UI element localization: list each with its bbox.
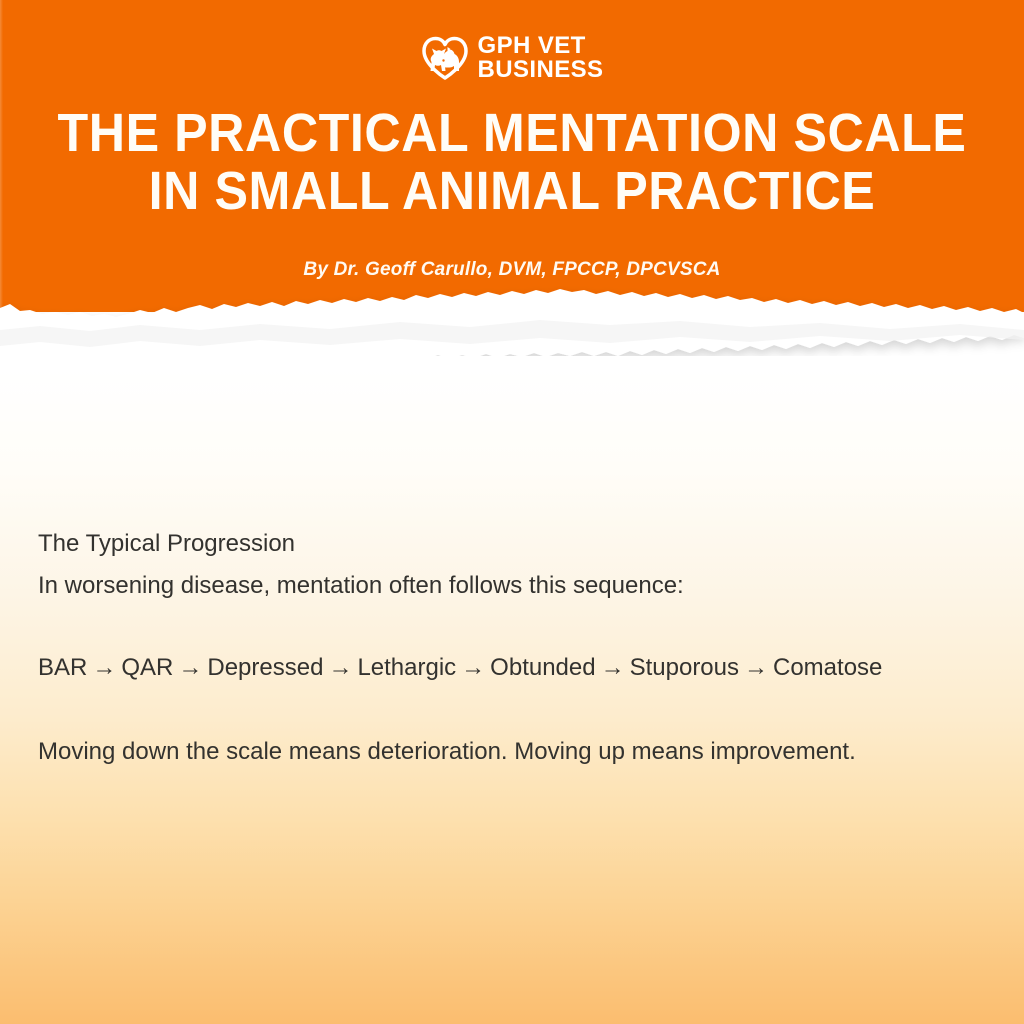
brand-name-line1: GPH VET (478, 34, 604, 58)
body-heading: The Typical Progression (38, 523, 988, 565)
author-byline: By Dr. Geoff Carullo, DVM, FPCCP, DPCVSC… (0, 259, 1024, 281)
sequence-arrow-icon: → (596, 654, 630, 681)
sequence-arrow-icon: → (173, 654, 207, 681)
mentation-sequence: BAR→QAR→Depressed→Lethargic→Obtunded→Stu… (38, 648, 988, 688)
sequence-arrow-icon: → (456, 654, 490, 681)
poster-canvas: GPH VET BUSINESS THE PRACTICAL MENTATION… (0, 0, 1024, 1024)
title-line-1: THE PRACTICAL MENTATION SCALE (36, 104, 988, 162)
sequence-term: Comatose (773, 654, 882, 681)
sequence-term: Depressed (207, 654, 323, 681)
sequence-arrow-icon: → (739, 654, 773, 681)
page-title: THE PRACTICAL MENTATION SCALE IN SMALL A… (0, 104, 1024, 220)
sequence-arrow-icon: → (323, 654, 357, 681)
sequence-term: QAR (121, 654, 173, 681)
body-closing: Moving down the scale means deterioratio… (38, 732, 988, 772)
sequence-term: Lethargic (357, 654, 456, 681)
brand-logo: GPH VET BUSINESS (0, 33, 1024, 83)
header-band: GPH VET BUSINESS THE PRACTICAL MENTATION… (0, 0, 1024, 312)
brand-wordmark: GPH VET BUSINESS (478, 34, 604, 81)
sequence-term: Obtunded (490, 654, 595, 681)
sequence-term: BAR (38, 654, 87, 681)
body-intro: In worsening disease, mentation often fo… (38, 565, 988, 607)
title-line-2: IN SMALL ANIMAL PRACTICE (36, 162, 988, 220)
heart-with-dog-and-cat-icon (421, 36, 469, 80)
body-content: The Typical Progression In worsening dis… (38, 523, 988, 772)
sequence-term: Stuporous (630, 654, 739, 681)
sequence-arrow-icon: → (87, 654, 121, 681)
brand-name-line2: BUSINESS (478, 58, 604, 82)
